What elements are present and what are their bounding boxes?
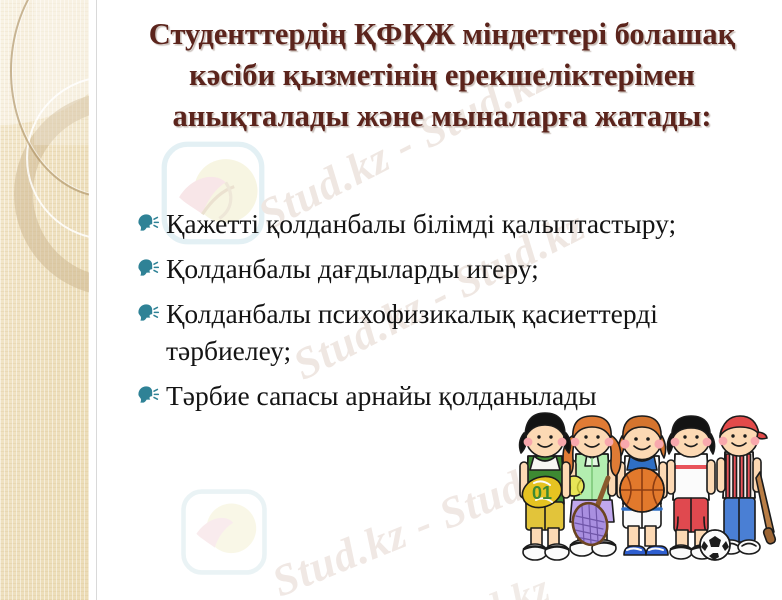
child-with-basketball-icon bbox=[617, 416, 668, 555]
speaking-head-icon bbox=[136, 213, 160, 233]
list-item: Тәрбие сапасы арнайы қолданылады bbox=[136, 377, 696, 414]
decorative-side-panel bbox=[0, 0, 89, 600]
list-item-text: Қажетті қолданбалы білімді қалыптастыру; bbox=[166, 208, 676, 239]
list-item-text: Қолданбалы психофизикалық қасиеттерді тә… bbox=[166, 298, 658, 366]
speaking-head-icon bbox=[136, 258, 160, 278]
child-with-football-icon: 01 bbox=[518, 413, 570, 560]
list-item-text: Тәрбие сапасы арнайы қолданылады bbox=[166, 380, 597, 411]
child-with-baseball-bat-icon bbox=[717, 416, 776, 554]
speaking-head-icon bbox=[136, 385, 160, 405]
list-item-text: Қолданбалы дағдыларды игеру; bbox=[166, 253, 539, 284]
speaking-head-icon bbox=[136, 303, 160, 323]
panel-divider bbox=[96, 0, 97, 600]
presentation-slide: Stud.kz - Stud.kz Stud.kz - Stud.kz Stud… bbox=[0, 0, 782, 600]
child-with-tennis-racket-icon bbox=[563, 416, 621, 556]
list-item: Қолданбалы психофизикалық қасиеттерді тә… bbox=[136, 295, 696, 369]
panel-gloss bbox=[34, 0, 89, 145]
svg-text:01: 01 bbox=[532, 483, 552, 503]
bullet-list: Қажетті қолданбалы білімді қалыптастыру;… bbox=[136, 205, 696, 422]
stud-kz-logo-watermark-secondary-icon bbox=[178, 486, 270, 578]
list-item: Қолданбалы дағдыларды игеру; bbox=[136, 250, 696, 287]
children-illustration: 01 bbox=[512, 412, 778, 587]
list-item: Қажетті қолданбалы білімді қалыптастыру; bbox=[136, 205, 696, 242]
slide-title: Студенттердің ҚФҚЖ міндеттері болашақ кә… bbox=[118, 14, 766, 137]
